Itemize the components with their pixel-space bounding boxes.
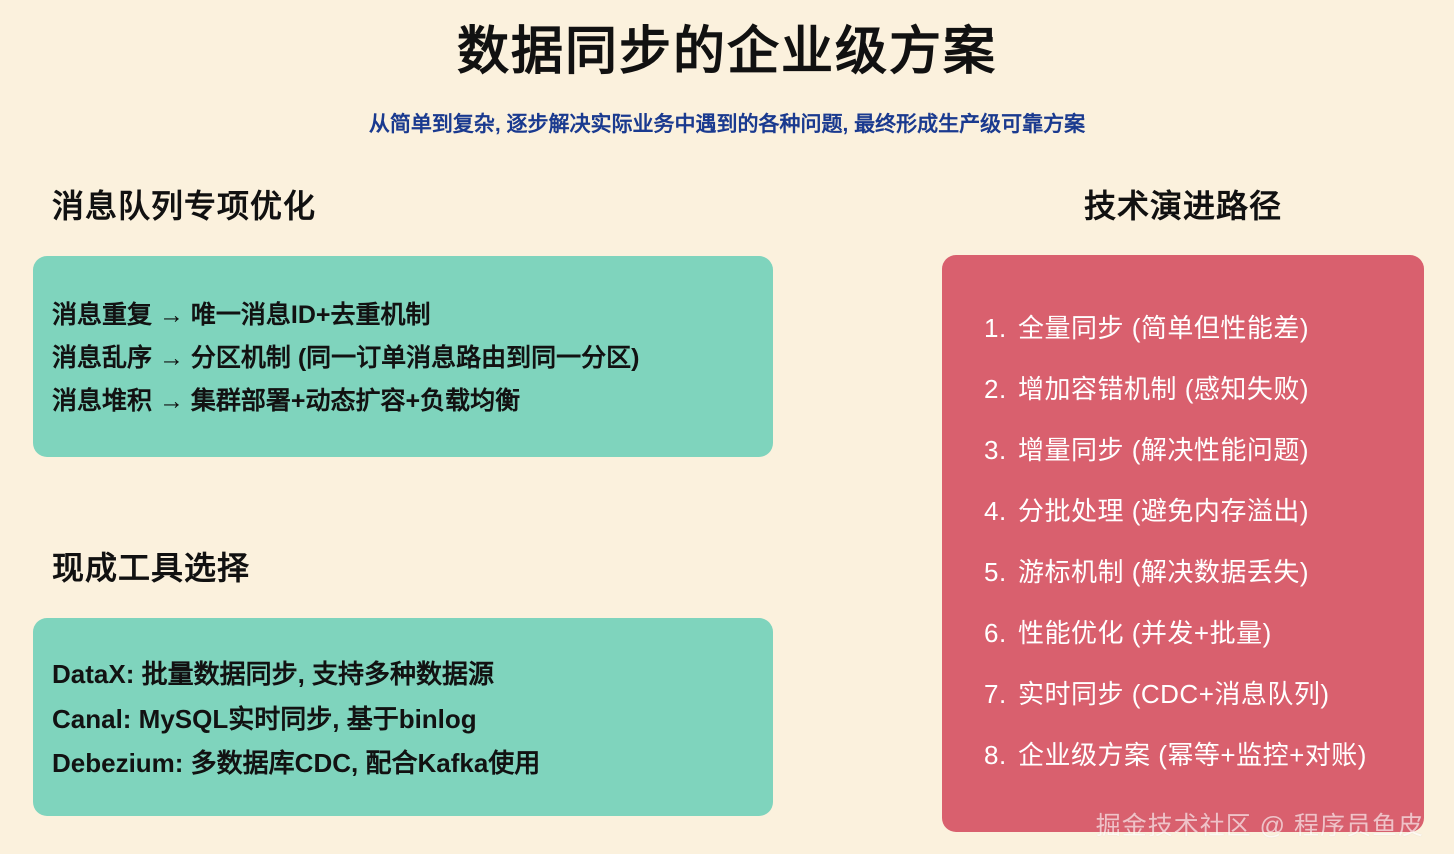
list-item-label: 性能优化 (并发+批量) <box>1018 620 1272 646</box>
list-item: 1. 全量同步 (简单但性能差) <box>984 297 1406 358</box>
list-item: 5. 游标机制 (解决数据丢失) <box>984 541 1406 602</box>
list-item-label: 分批处理 (避免内存溢出) <box>1018 498 1309 524</box>
list-item-label: 游标机制 (解决数据丢失) <box>1018 559 1309 585</box>
list-item-label: 实时同步 (CDC+消息队列) <box>1018 681 1330 707</box>
section-heading-message-queue: 消息队列专项优化 <box>33 186 775 226</box>
list-item: 4. 分批处理 (避免内存溢出) <box>984 480 1406 541</box>
list-item-label: 增加容错机制 (感知失败) <box>1018 376 1309 402</box>
list-item: 7. 实时同步 (CDC+消息队列) <box>984 663 1406 724</box>
list-item-number: 8. <box>984 742 1018 768</box>
section-heading-evolution-path: 技术演进路径 <box>942 186 1424 226</box>
list-item-number: 4. <box>984 498 1018 524</box>
tool-line-canal: Canal: MySQL实时同步, 基于binlog <box>52 697 763 742</box>
tool-line-debezium: Debezium: 多数据库CDC, 配合Kafka使用 <box>52 741 763 786</box>
card-tool-selection: DataX: 批量数据同步, 支持多种数据源 Canal: MySQL实时同步,… <box>33 618 773 816</box>
message-queue-line-3: 消息堆积 → 集群部署+动态扩容+负载均衡 <box>52 380 763 423</box>
watermark: 掘金技术社区 @ 程序员鱼皮 <box>1096 806 1424 842</box>
card-message-queue-optimization: 消息重复 → 唯一消息ID+去重机制 消息乱序 → 分区机制 (同一订单消息路由… <box>33 256 773 457</box>
list-item-label: 全量同步 (简单但性能差) <box>1018 315 1309 341</box>
tool-line-datax: DataX: 批量数据同步, 支持多种数据源 <box>52 652 763 697</box>
infographic-poster: 数据同步的企业级方案 从简单到复杂, 逐步解决实际业务中遇到的各种问题, 最终形… <box>0 0 1454 854</box>
list-item-number: 5. <box>984 559 1018 585</box>
list-item-label: 增量同步 (解决性能问题) <box>1018 437 1309 463</box>
tool-line-list: DataX: 批量数据同步, 支持多种数据源 Canal: MySQL实时同步,… <box>52 652 763 786</box>
list-item: 3. 增量同步 (解决性能问题) <box>984 419 1406 480</box>
list-item: 2. 增加容错机制 (感知失败) <box>984 358 1406 419</box>
evolution-step-list: 1. 全量同步 (简单但性能差) 2. 增加容错机制 (感知失败) 3. 增量同… <box>984 297 1406 785</box>
message-queue-line-1: 消息重复 → 唯一消息ID+去重机制 <box>52 294 763 337</box>
card-technical-evolution-path: 1. 全量同步 (简单但性能差) 2. 增加容错机制 (感知失败) 3. 增量同… <box>942 255 1424 832</box>
list-item-label: 企业级方案 (幂等+监控+对账) <box>1018 742 1367 768</box>
list-item: 6. 性能优化 (并发+批量) <box>984 602 1406 663</box>
list-item-number: 1. <box>984 315 1018 341</box>
section-heading-tool-selection: 现成工具选择 <box>33 548 775 588</box>
message-queue-line-2: 消息乱序 → 分区机制 (同一订单消息路由到同一分区) <box>52 337 763 380</box>
list-item-number: 2. <box>984 376 1018 402</box>
list-item: 8. 企业级方案 (幂等+监控+对账) <box>984 724 1406 785</box>
page-subtitle: 从简单到复杂, 逐步解决实际业务中遇到的各种问题, 最终形成生产级可靠方案 <box>0 108 1454 138</box>
message-queue-line-list: 消息重复 → 唯一消息ID+去重机制 消息乱序 → 分区机制 (同一订单消息路由… <box>52 294 763 423</box>
list-item-number: 7. <box>984 681 1018 707</box>
page-title: 数据同步的企业级方案 <box>0 22 1454 83</box>
list-item-number: 3. <box>984 437 1018 463</box>
list-item-number: 6. <box>984 620 1018 646</box>
